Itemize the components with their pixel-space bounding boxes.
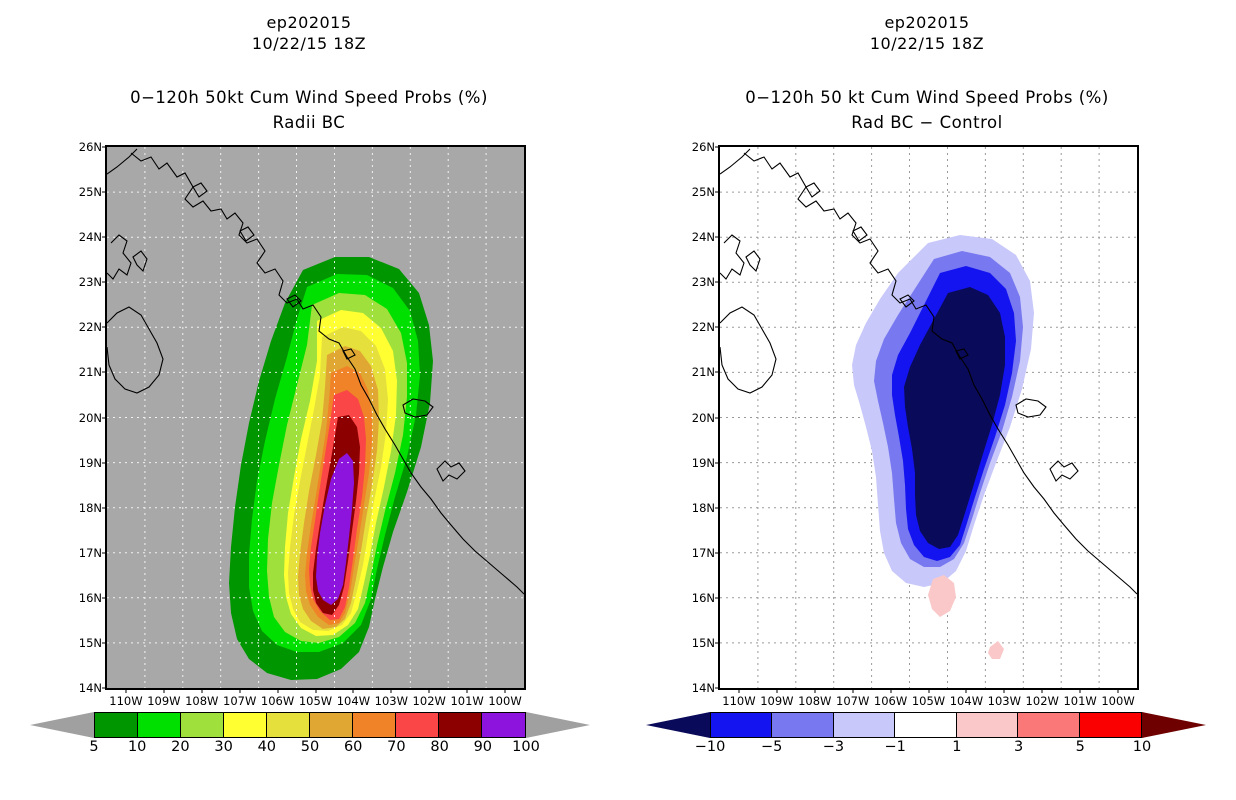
left-y-label: 18N bbox=[79, 501, 102, 515]
left-colorbar[interactable]: 5102030405060708090100 bbox=[30, 712, 590, 758]
left-colorbar-cell[interactable] bbox=[181, 713, 224, 737]
left-y-label: 20N bbox=[79, 411, 102, 425]
right-y-tick bbox=[715, 372, 720, 373]
left-colorbar-tick-label: 80 bbox=[430, 739, 448, 755]
right-colorbar-tick-label: −10 bbox=[695, 739, 726, 755]
left-x-label: 104W bbox=[337, 694, 370, 708]
left-colorbar-cell[interactable] bbox=[353, 713, 396, 737]
right-y-tick bbox=[715, 597, 720, 598]
left-y-tick bbox=[102, 597, 107, 598]
right-x-label: 100W bbox=[1101, 694, 1134, 708]
right-colorbar-cell[interactable] bbox=[711, 713, 772, 737]
right-y-label: 20N bbox=[692, 411, 715, 425]
right-y-tick bbox=[715, 192, 720, 193]
left-y-tick bbox=[102, 688, 107, 689]
right-y-label: 18N bbox=[692, 501, 715, 515]
left-x-tick bbox=[239, 688, 240, 693]
right-x-label: 109W bbox=[760, 694, 793, 708]
left-x-label: 107W bbox=[223, 694, 256, 708]
left-colorbar-tick-label: 60 bbox=[344, 739, 362, 755]
left-x-tick bbox=[429, 688, 430, 693]
left-x-tick bbox=[315, 688, 316, 693]
right-x-tick bbox=[890, 688, 891, 693]
right-colorbar-tick-label: 3 bbox=[1014, 739, 1023, 755]
right-x-tick bbox=[776, 688, 777, 693]
left-y-tick bbox=[102, 642, 107, 643]
left-y-label: 25N bbox=[79, 185, 102, 199]
right-colorbar[interactable]: −10−5−3−113510 bbox=[646, 712, 1206, 758]
left-x-label: 100W bbox=[488, 694, 521, 708]
left-map-plot[interactable]: 26N25N24N23N22N21N20N19N18N17N16N15N14N1… bbox=[105, 145, 526, 690]
left-title: 0−120h 50kt Cum Wind Speed Probs (%) bbox=[0, 87, 618, 108]
right-y-label: 26N bbox=[692, 140, 715, 154]
left-x-tick bbox=[277, 688, 278, 693]
right-colorbar-cell[interactable] bbox=[834, 713, 895, 737]
left-x-label: 102W bbox=[413, 694, 446, 708]
left-y-tick bbox=[102, 147, 107, 148]
right-y-label: 22N bbox=[692, 320, 715, 334]
right-y-label: 15N bbox=[692, 636, 715, 650]
right-y-tick bbox=[715, 642, 720, 643]
left-colorbar-tick-label: 70 bbox=[387, 739, 405, 755]
left-map-svg bbox=[107, 147, 524, 688]
left-colorbar-cell[interactable] bbox=[95, 713, 138, 737]
right-colorbar-cell[interactable] bbox=[772, 713, 833, 737]
left-colorbar-tick-label: 100 bbox=[512, 739, 540, 755]
left-contour-fills bbox=[229, 257, 433, 680]
right-colorbar-cell[interactable] bbox=[957, 713, 1018, 737]
right-x-tick bbox=[852, 688, 853, 693]
right-y-tick bbox=[715, 462, 720, 463]
right-x-label: 110W bbox=[722, 694, 755, 708]
right-colorbar-tick-label: 10 bbox=[1133, 739, 1151, 755]
right-map-svg bbox=[720, 147, 1137, 688]
left-y-label: 16N bbox=[79, 591, 102, 605]
left-x-label: 110W bbox=[109, 694, 142, 708]
figure-root: ep202015 10/22/15 18Z 0−120h 50kt Cum Wi… bbox=[0, 0, 1236, 800]
right-storm-id: ep202015 bbox=[618, 12, 1236, 33]
left-colorbar-low-cap bbox=[30, 712, 94, 738]
left-y-label: 14N bbox=[79, 681, 102, 695]
right-colorbar-cell[interactable] bbox=[1080, 713, 1141, 737]
left-y-tick bbox=[102, 372, 107, 373]
right-y-tick bbox=[715, 417, 720, 418]
left-colorbar-strip[interactable] bbox=[94, 712, 526, 738]
right-y-tick bbox=[715, 282, 720, 283]
left-colorbar-tick-label: 20 bbox=[171, 739, 189, 755]
right-x-tick bbox=[1118, 688, 1119, 693]
left-colorbar-tick-label: 40 bbox=[258, 739, 276, 755]
right-y-tick bbox=[715, 507, 720, 508]
right-colorbar-high-cap bbox=[1142, 712, 1206, 738]
left-x-label: 105W bbox=[299, 694, 332, 708]
right-y-label: 17N bbox=[692, 546, 715, 560]
right-y-tick bbox=[715, 147, 720, 148]
left-x-tick bbox=[201, 688, 202, 693]
left-y-label: 15N bbox=[79, 636, 102, 650]
right-y-label: 24N bbox=[692, 230, 715, 244]
left-x-tick bbox=[467, 688, 468, 693]
left-datetime: 10/22/15 18Z bbox=[0, 33, 618, 54]
left-colorbar-tick-label: 30 bbox=[214, 739, 232, 755]
left-map-clip bbox=[107, 147, 524, 688]
right-x-tick bbox=[966, 688, 967, 693]
right-y-label: 25N bbox=[692, 185, 715, 199]
right-map-clip bbox=[720, 147, 1137, 688]
right-x-tick bbox=[1080, 688, 1081, 693]
right-colorbar-tick-label: 1 bbox=[952, 739, 961, 755]
right-x-label: 103W bbox=[988, 694, 1021, 708]
right-y-label: 14N bbox=[692, 681, 715, 695]
panel-rad-bc-minus-control: ep202015 10/22/15 18Z 0−120h 50 kt Cum W… bbox=[618, 0, 1236, 800]
left-colorbar-cell[interactable] bbox=[396, 713, 439, 737]
left-colorbar-tick-label: 50 bbox=[301, 739, 319, 755]
left-colorbar-cell[interactable] bbox=[138, 713, 181, 737]
right-colorbar-low-cap bbox=[646, 712, 710, 738]
right-y-tick bbox=[715, 688, 720, 689]
right-colorbar-tick-label: −5 bbox=[761, 739, 782, 755]
right-positive-fills bbox=[928, 575, 1004, 688]
right-x-label: 106W bbox=[874, 694, 907, 708]
right-colorbar-tick-label: 5 bbox=[1076, 739, 1085, 755]
left-y-label: 21N bbox=[79, 365, 102, 379]
right-x-tick bbox=[1004, 688, 1005, 693]
left-x-tick bbox=[353, 688, 354, 693]
right-colorbar-cell[interactable] bbox=[1018, 713, 1079, 737]
right-x-label: 102W bbox=[1026, 694, 1059, 708]
right-x-label: 105W bbox=[912, 694, 945, 708]
left-colorbar-cell[interactable] bbox=[439, 713, 482, 737]
left-y-tick bbox=[102, 462, 107, 463]
left-colorbar-tick-label: 10 bbox=[128, 739, 146, 755]
right-subtitle: Rad BC − Control bbox=[618, 112, 1236, 133]
left-y-label: 17N bbox=[79, 546, 102, 560]
left-colorbar-cell[interactable] bbox=[267, 713, 310, 737]
diff-contour-p1-b bbox=[988, 641, 1004, 659]
right-colorbar-cell[interactable] bbox=[895, 713, 956, 737]
left-y-label: 22N bbox=[79, 320, 102, 334]
right-colorbar-labels: −10−5−3−113510 bbox=[646, 739, 1206, 757]
panel-radii-bc: ep202015 10/22/15 18Z 0−120h 50kt Cum Wi… bbox=[0, 0, 618, 800]
left-y-tick bbox=[102, 237, 107, 238]
left-colorbar-tick-label: 90 bbox=[474, 739, 492, 755]
left-x-tick bbox=[505, 688, 506, 693]
right-x-tick bbox=[1042, 688, 1043, 693]
right-x-tick bbox=[814, 688, 815, 693]
left-x-tick bbox=[125, 688, 126, 693]
left-y-label: 24N bbox=[79, 230, 102, 244]
left-y-label: 19N bbox=[79, 456, 102, 470]
right-y-tick bbox=[715, 327, 720, 328]
right-x-label: 101W bbox=[1063, 694, 1096, 708]
right-x-label: 104W bbox=[950, 694, 983, 708]
left-subtitle: Radii BC bbox=[0, 112, 618, 133]
right-datetime: 10/22/15 18Z bbox=[618, 33, 1236, 54]
left-colorbar-cell[interactable] bbox=[310, 713, 353, 737]
right-contour-fills bbox=[852, 235, 1034, 587]
right-x-tick bbox=[928, 688, 929, 693]
left-colorbar-labels: 5102030405060708090100 bbox=[30, 739, 590, 757]
right-x-label: 107W bbox=[836, 694, 869, 708]
left-y-tick bbox=[102, 552, 107, 553]
left-x-label: 108W bbox=[185, 694, 218, 708]
left-colorbar-high-cap bbox=[526, 712, 590, 738]
left-colorbar-tick-label: 5 bbox=[89, 739, 98, 755]
left-y-tick bbox=[102, 192, 107, 193]
left-y-tick bbox=[102, 282, 107, 283]
left-y-tick bbox=[102, 507, 107, 508]
right-x-tick bbox=[738, 688, 739, 693]
left-y-tick bbox=[102, 327, 107, 328]
right-y-label: 23N bbox=[692, 275, 715, 289]
left-colorbar-cell[interactable] bbox=[224, 713, 267, 737]
left-x-tick bbox=[163, 688, 164, 693]
right-colorbar-tick-label: −1 bbox=[884, 739, 905, 755]
left-x-label: 109W bbox=[147, 694, 180, 708]
right-colorbar-strip[interactable] bbox=[710, 712, 1142, 738]
left-x-label: 101W bbox=[450, 694, 483, 708]
right-y-label: 16N bbox=[692, 591, 715, 605]
left-y-tick bbox=[102, 417, 107, 418]
left-x-label: 103W bbox=[375, 694, 408, 708]
right-y-label: 19N bbox=[692, 456, 715, 470]
left-x-label: 106W bbox=[261, 694, 294, 708]
right-colorbar-tick-label: −3 bbox=[823, 739, 844, 755]
right-y-tick bbox=[715, 552, 720, 553]
right-y-label: 21N bbox=[692, 365, 715, 379]
right-y-tick bbox=[715, 237, 720, 238]
left-storm-id: ep202015 bbox=[0, 12, 618, 33]
left-y-label: 26N bbox=[79, 140, 102, 154]
right-map-plot[interactable]: 26N25N24N23N22N21N20N19N18N17N16N15N14N1… bbox=[718, 145, 1139, 690]
left-y-label: 23N bbox=[79, 275, 102, 289]
right-x-label: 108W bbox=[798, 694, 831, 708]
left-colorbar-cell[interactable] bbox=[482, 713, 525, 737]
right-title: 0−120h 50 kt Cum Wind Speed Probs (%) bbox=[618, 87, 1236, 108]
left-x-tick bbox=[391, 688, 392, 693]
